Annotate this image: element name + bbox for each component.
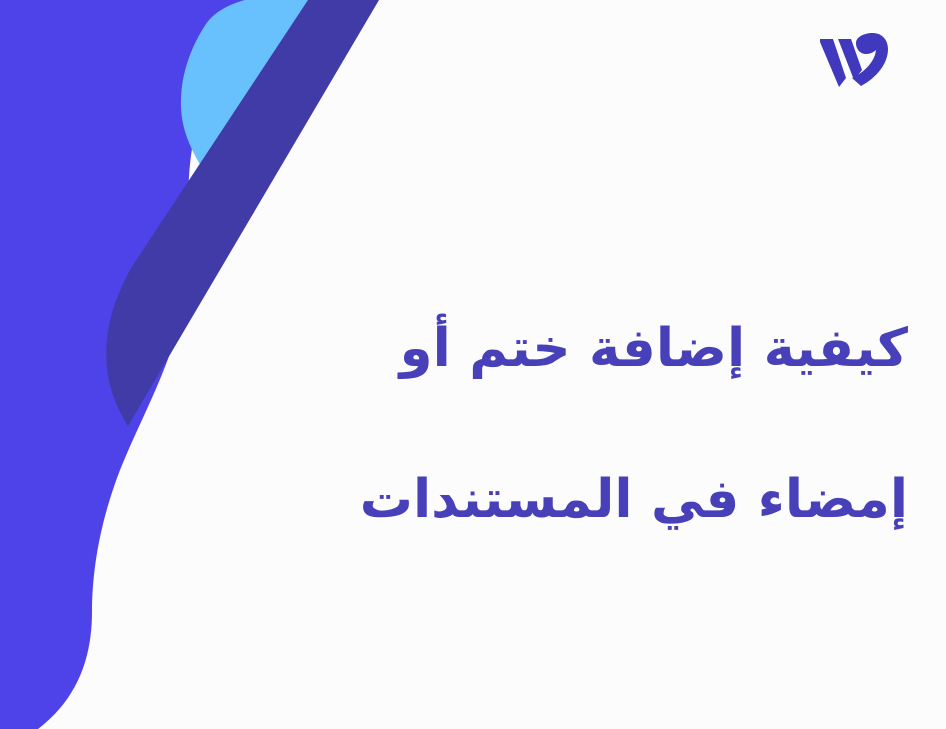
title-card: كيفية إضافة ختم أو إمضاء في المستندات — [0, 0, 946, 729]
w-logo-icon — [818, 30, 890, 92]
brand-logo[interactable] — [818, 30, 890, 92]
page-title: كيفية إضافة ختم أو إمضاء في المستندات — [208, 236, 908, 612]
page-title-line-1: كيفية إضافة ختم أو — [208, 311, 908, 386]
page-title-line-2: إمضاء في المستندات — [208, 462, 908, 537]
